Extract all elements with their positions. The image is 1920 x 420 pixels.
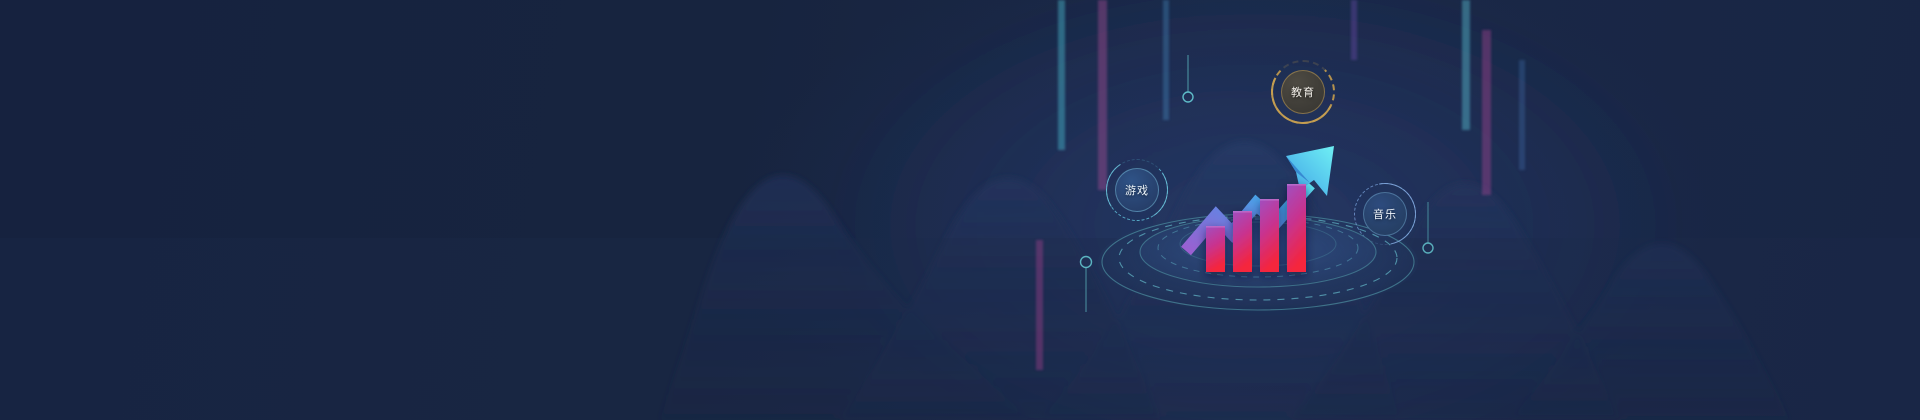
- bar-2: [1233, 211, 1252, 272]
- badge-music-label[interactable]: 音乐: [1363, 192, 1407, 236]
- badge-games-label[interactable]: 游戏: [1115, 168, 1159, 212]
- badge-education-label[interactable]: 教育: [1281, 70, 1325, 114]
- bar-3: [1260, 199, 1279, 272]
- growth-chart: [0, 0, 1920, 420]
- bar-4: [1287, 184, 1306, 272]
- bar-1: [1206, 226, 1225, 272]
- hero-banner: 游戏 教育 音乐: [0, 0, 1920, 420]
